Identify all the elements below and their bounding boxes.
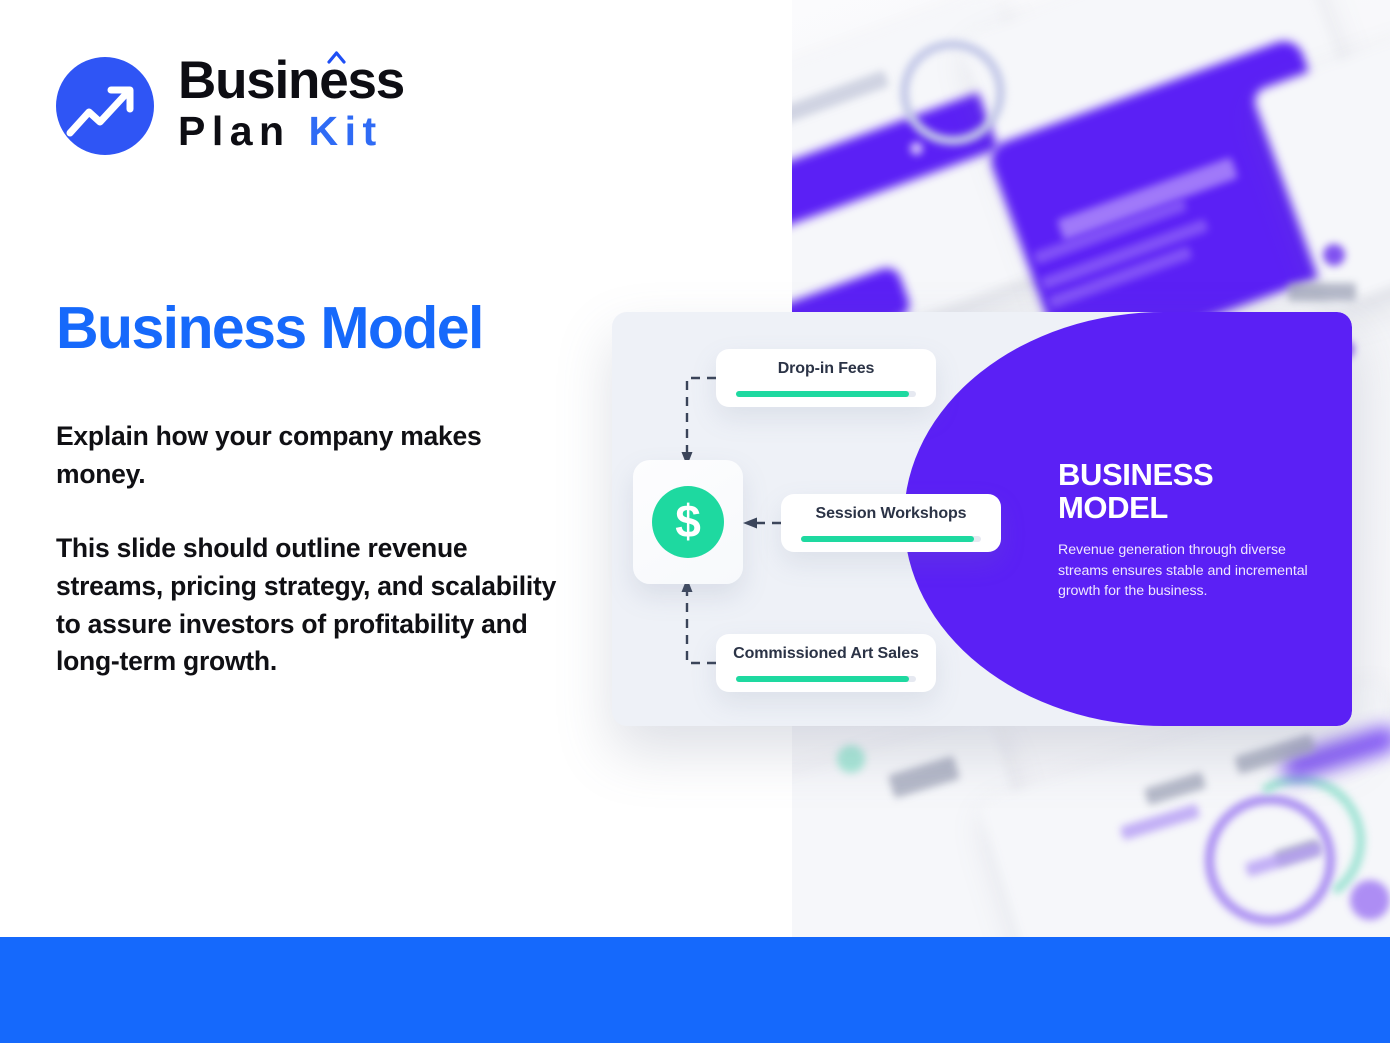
revenue-progress-track <box>801 536 981 542</box>
circumflex-accent-icon <box>327 51 346 64</box>
revenue-progress-fill <box>736 391 909 397</box>
dollar-sign-icon: $ <box>652 486 724 558</box>
revenue-stream-label: Session Workshops <box>816 505 967 523</box>
page-title: Business Model <box>56 298 483 360</box>
paragraph-intro: Explain how your company makes money. <box>56 418 576 494</box>
logo-kit-text: Kit <box>309 108 383 154</box>
growth-arrow-chart-icon <box>56 57 154 155</box>
brand-logo[interactable]: Business Plan Kit <box>56 56 404 155</box>
revenue-stream-card[interactable]: Commissioned Art Sales <box>716 634 936 692</box>
visual-panel-title: BUSINESS MODEL <box>1058 458 1320 525</box>
visual-panel-description: Revenue generation through diverse strea… <box>1058 540 1320 602</box>
revenue-progress-fill <box>736 676 909 682</box>
revenue-stream-label: Commissioned Art Sales <box>733 645 919 663</box>
revenue-hub-node[interactable]: $ <box>633 460 743 584</box>
revenue-progress-fill <box>801 536 974 542</box>
svg-text:$: $ <box>675 496 701 547</box>
revenue-progress-track <box>736 676 916 682</box>
logo-plan-text: Plan <box>178 108 291 154</box>
logo-business-text: Business <box>178 51 404 110</box>
revenue-stream-card[interactable]: Drop-in Fees <box>716 349 936 407</box>
logo-wordmark-line1: Business <box>178 56 404 107</box>
body-copy: Explain how your company makes money. Th… <box>56 418 576 681</box>
revenue-stream-card[interactable]: Session Workshops <box>781 494 1001 552</box>
slide-canvas: Business Plan Kit Business Model Explain… <box>0 0 1390 1043</box>
paragraph-detail: This slide should outline revenue stream… <box>56 530 576 682</box>
revenue-progress-track <box>736 391 916 397</box>
revenue-stream-label: Drop-in Fees <box>778 360 875 378</box>
footer-accent-bar <box>0 937 1390 1043</box>
logo-wordmark-line2: Plan Kit <box>178 108 404 155</box>
